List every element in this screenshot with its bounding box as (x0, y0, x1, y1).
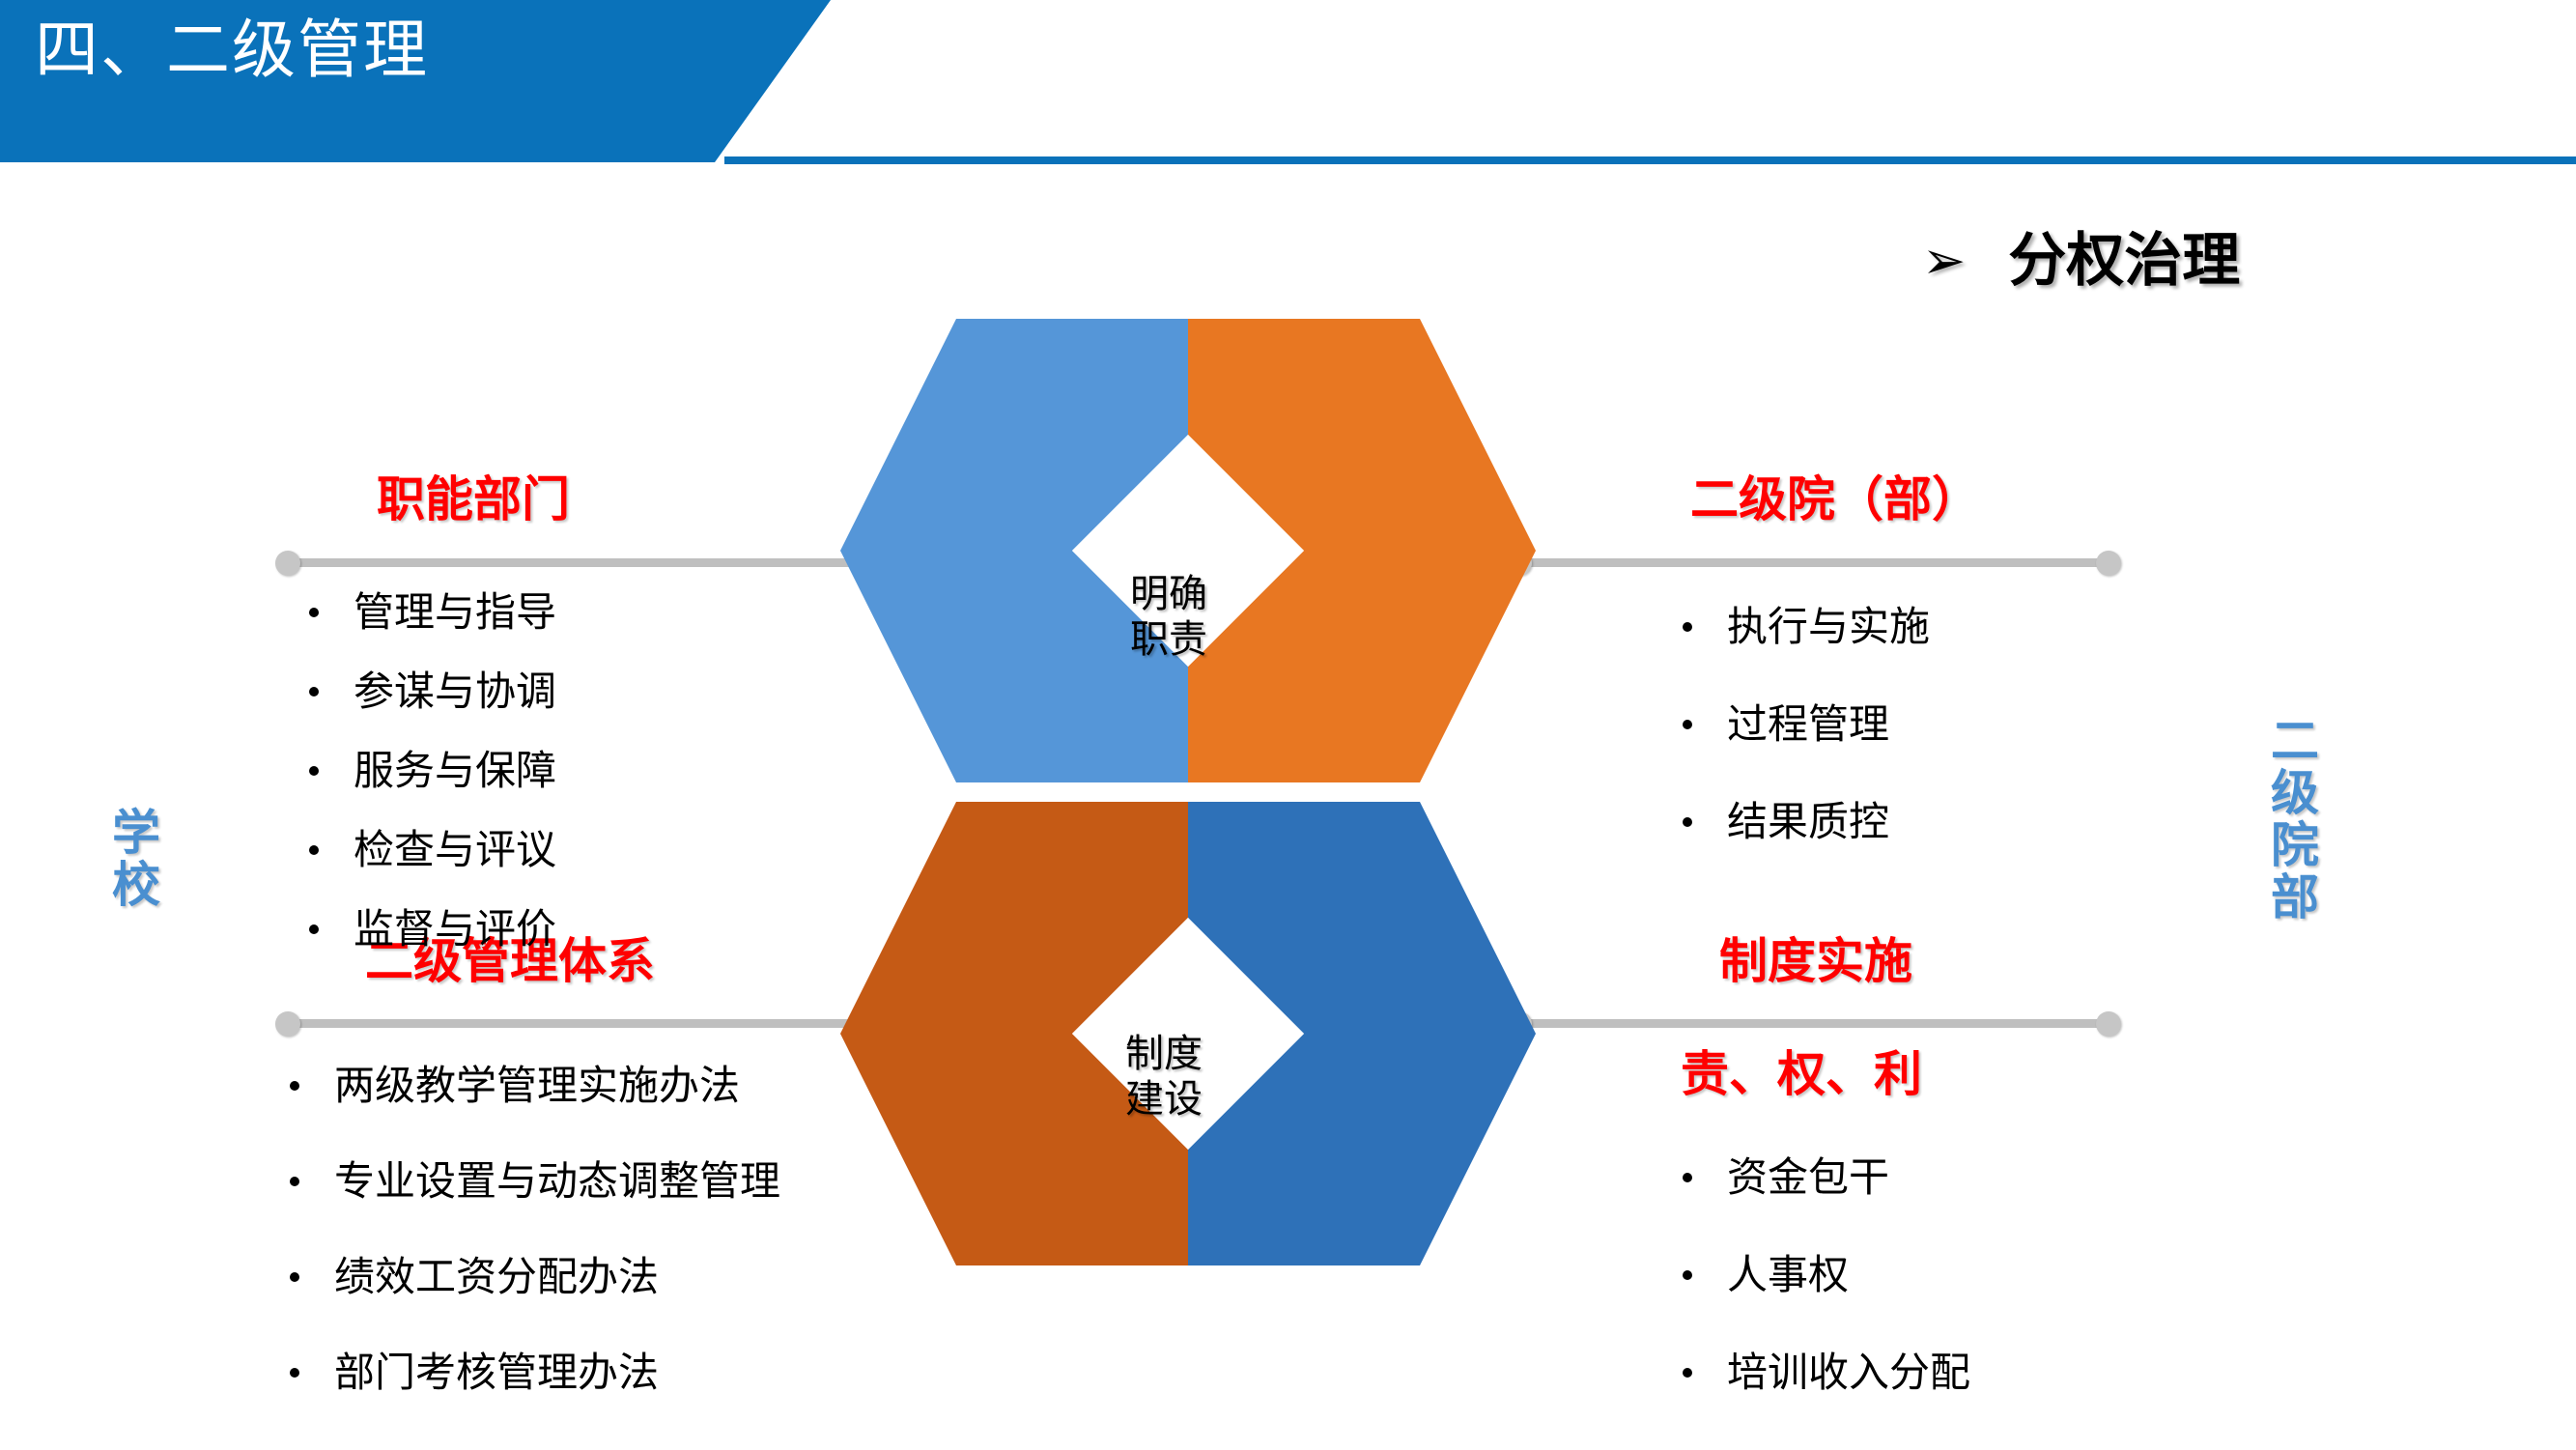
heading-system-implementation: 制度实施 (1719, 937, 1912, 985)
list-item: 管理与指导 (309, 580, 556, 639)
header-rule (724, 156, 2576, 164)
list-item: 结果质控 (1683, 789, 1930, 848)
list-functional-dept: 管理与指导 参谋与协调 服务与保障 检查与评议 监督与评价 (309, 580, 556, 976)
diagram-label-top: 明确 职责 (1077, 572, 1260, 663)
list-item: 人事权 (1683, 1242, 1970, 1301)
list-item: 执行与实施 (1683, 594, 1930, 653)
rail-cap-upper-right-end (2096, 551, 2121, 576)
bullet-dot-icon (309, 766, 319, 776)
rail-cap-lower-right-end (2096, 1011, 2121, 1037)
list-item: 过程管理 (1683, 692, 1930, 751)
chevron-diagram: 明确 职责 制度 建设 (831, 319, 1545, 1265)
rail-upper-right (1512, 558, 2120, 567)
list-item-label: 部门考核管理办法 (334, 1340, 659, 1399)
bullet-dot-icon (1683, 1173, 1692, 1182)
list-item: 资金包干 (1683, 1145, 1970, 1204)
bullet-dot-icon (1683, 1368, 1692, 1378)
list-management-system: 两级教学管理实施办法 专业设置与动态调整管理 绩效工资分配办法 部门考核管理办法 (290, 1053, 780, 1436)
page-title: 四、二级管理 (35, 17, 429, 81)
list-item-label: 参谋与协调 (354, 659, 556, 718)
list-item: 参谋与协调 (309, 659, 556, 718)
bullet-dot-icon (290, 1177, 299, 1186)
bullet-dot-icon (309, 924, 319, 934)
list-item: 监督与评价 (309, 896, 556, 955)
bullet-dot-icon (309, 845, 319, 855)
list-item-label: 检查与评议 (354, 817, 556, 876)
bullet-dot-icon (309, 687, 319, 697)
rail-lower-right (1512, 1019, 2120, 1028)
list-item-label: 管理与指导 (354, 580, 556, 639)
bullet-dot-icon (1683, 817, 1692, 827)
rail-cap-upper-left-start (275, 551, 300, 576)
arrow-bullet-icon: ➢ (1922, 235, 1966, 287)
list-item: 绩效工资分配办法 (290, 1244, 780, 1303)
subheading-responsibility: 责、权、利 (1681, 1050, 1922, 1098)
list-item-label: 资金包干 (1727, 1145, 1889, 1204)
rail-cap-lower-left-start (275, 1011, 300, 1037)
bullet-dot-icon (1683, 1270, 1692, 1280)
bullet-dot-icon (290, 1081, 299, 1091)
list-item: 专业设置与动态调整管理 (290, 1149, 780, 1208)
list-item-label: 两级教学管理实施办法 (334, 1053, 740, 1112)
list-item: 检查与评议 (309, 817, 556, 876)
list-item-label: 服务与保障 (354, 738, 556, 797)
bullet-dot-icon (1683, 622, 1692, 632)
list-item: 服务与保障 (309, 738, 556, 797)
list-item-label: 执行与实施 (1727, 594, 1930, 653)
list-item: 培训收入分配 (1683, 1340, 1970, 1399)
list-item-label: 专业设置与动态调整管理 (334, 1149, 780, 1208)
list-item-label: 监督与评价 (354, 896, 556, 955)
list-item-label: 绩效工资分配办法 (334, 1244, 659, 1303)
bullet-dot-icon (1683, 720, 1692, 729)
diagram-label-bottom: 制度 建设 (1072, 1032, 1256, 1123)
list-item-label: 过程管理 (1727, 692, 1889, 751)
side-label-school: 学校 (106, 807, 158, 911)
topic-label: 分权治理 (2008, 232, 2240, 290)
list-item-label: 结果质控 (1727, 789, 1889, 848)
list-secondary-college: 执行与实施 过程管理 结果质控 (1683, 594, 1930, 887)
slide-canvas: 四、二级管理 ➢ 分权治理 职能部门 二级院（部） 二级管理体系 制度实施 责、… (0, 0, 2576, 1450)
side-label-secondary-dept: 二级院部 (2265, 715, 2317, 924)
list-system-implementation: 资金包干 人事权 培训收入分配 (1683, 1145, 1970, 1437)
topic-heading: ➢ 分权治理 (1922, 232, 2240, 290)
list-item: 两级教学管理实施办法 (290, 1053, 780, 1112)
bullet-dot-icon (290, 1272, 299, 1282)
heading-functional-dept: 职能部门 (377, 475, 570, 524)
heading-secondary-college: 二级院（部） (1690, 475, 1980, 524)
list-item-label: 人事权 (1727, 1242, 1849, 1301)
bullet-dot-icon (309, 608, 319, 617)
list-item: 部门考核管理办法 (290, 1340, 780, 1399)
list-item-label: 培训收入分配 (1727, 1340, 1970, 1399)
bullet-dot-icon (290, 1368, 299, 1378)
